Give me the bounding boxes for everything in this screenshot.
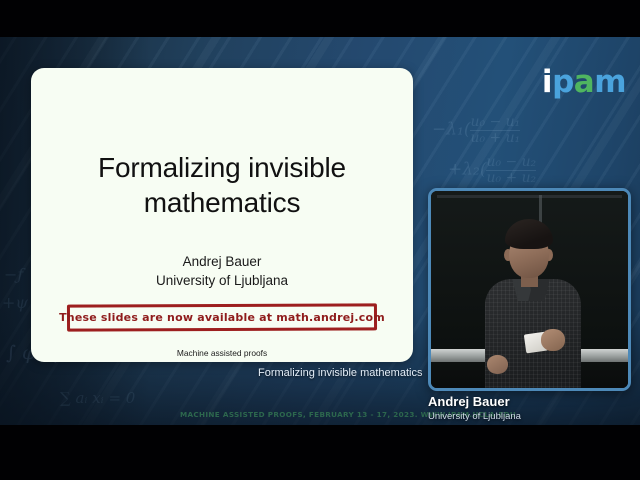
presenter-hand-left: [487, 355, 508, 374]
ipam-logo-letter-p: p: [552, 64, 574, 100]
slides-availability-notice: These slides are now available at math.a…: [67, 304, 377, 331]
presenter-lower-third: Andrej Bauer University of Ljubljana: [428, 395, 640, 423]
presenter-affiliation: University of Ljubljana: [428, 411, 640, 423]
slides-availability-notice-text: These slides are now available at math.a…: [59, 311, 385, 324]
ipam-logo-letter-m: m: [594, 64, 626, 100]
slide-title-overlay-caption: Formalizing invisible mathematics: [258, 367, 422, 379]
presenter-figure: [479, 213, 587, 388]
slide-title: Formalizing invisible mathematics: [47, 150, 397, 220]
presenter-hand-right: [541, 329, 565, 351]
slide-content: Formalizing invisible mathematics Andrej…: [31, 68, 413, 362]
ipam-logo-letter-a: a: [574, 64, 594, 100]
video-stage: −λ₁(u₀ − u₁u₀ + u₁ +λ₂(u₀ − u₂u₀ + u₂ −ƒ…: [0, 37, 640, 425]
letterbox-top: [0, 0, 640, 37]
ipam-logo-letter-i: i: [542, 64, 552, 100]
slide-author-block: Andrej Bauer University of Ljubljana: [47, 253, 397, 290]
slide-title-line-2: mathematics: [47, 185, 397, 220]
letterbox-bottom: [0, 425, 640, 480]
slide-author-name: Andrej Bauer: [47, 253, 397, 272]
slide-footer-line-2: Institute for pure and applied mathemati…: [47, 360, 397, 362]
presenter-name: Andrej Bauer: [428, 395, 640, 410]
slide-footer-line-1: Machine assisted proofs: [47, 347, 397, 360]
slide-title-line-1: Formalizing invisible: [47, 150, 397, 185]
ipam-logo: ipam: [542, 67, 626, 98]
presenter-video-frame: [431, 191, 628, 388]
presenter-hair: [505, 219, 553, 249]
presenter-video-pane[interactable]: [428, 188, 631, 391]
video-player-viewport: −λ₁(u₀ − u₁u₀ + u₁ +λ₂(u₀ − u₂u₀ + u₂ −ƒ…: [0, 0, 640, 480]
blackboard-frame-top: [437, 195, 622, 198]
slide-author-affiliation: University of Ljubljana: [47, 272, 397, 291]
slide-footer: Machine assisted proofs Institute for pu…: [47, 347, 397, 362]
presentation-slide: Formalizing invisible mathematics Andrej…: [31, 68, 413, 362]
